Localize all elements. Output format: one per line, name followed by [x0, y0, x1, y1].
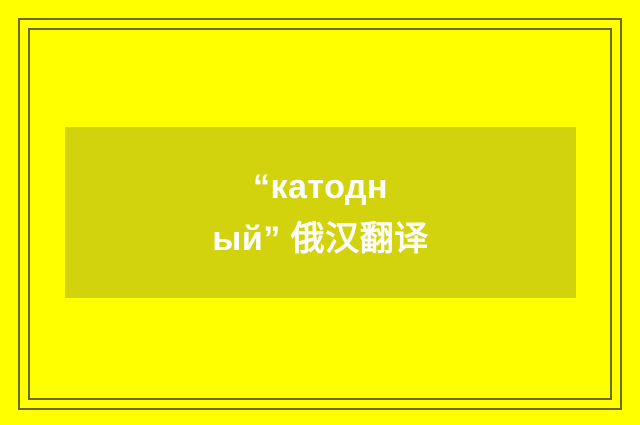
title-line-1: “катодн [212, 161, 428, 213]
title-line-2: ый” 俄汉翻译 [212, 213, 428, 265]
title-text-block: “катодн ый” 俄汉翻译 [212, 161, 428, 265]
banner-canvas: “катодн ый” 俄汉翻译 [0, 0, 640, 425]
title-card: “катодн ый” 俄汉翻译 [65, 127, 576, 298]
